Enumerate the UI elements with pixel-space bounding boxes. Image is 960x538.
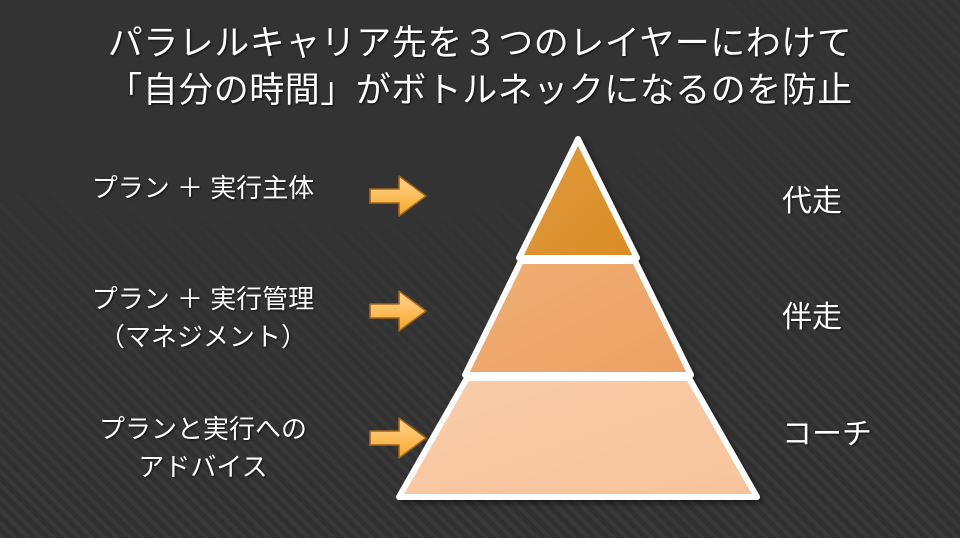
tier-bottom-right-label: コーチ [782,415,942,455]
page-title: パラレルキャリア先を３つのレイヤーにわけて 「自分の時間」がボトルネックになるの… [0,20,960,114]
tier-middle-left-label: プラン ＋ 実行管理 （マネジメント） [38,280,368,356]
right-arrow-icon [368,288,428,334]
pyramid-diagram [388,128,772,510]
tier-middle-left-label-line-2: （マネジメント） [38,318,368,356]
page-title-line-2: 「自分の時間」がボトルネックになるのを防止 [0,67,960,114]
tier-bottom-left-label: プランと実行への アドバイス [38,410,368,486]
tier-top-right-label: 代走 [782,182,942,222]
tier-middle-left-label-line-1: プラン ＋ 実行管理 [38,280,368,318]
tier-bottom-left-label-line-1: プランと実行への [38,410,368,448]
tier-bottom-left-label-line-2: アドバイス [38,448,368,486]
pyramid-tier-middle-shape [465,261,691,375]
pyramid-tier-bottom-shape [399,378,757,497]
tier-middle-right-label: 伴走 [782,298,942,338]
tier-top-left-label: プラン ＋ 実行主体 [38,169,368,207]
right-arrow-icon [368,415,428,461]
page-title-line-1: パラレルキャリア先を３つのレイヤーにわけて [0,20,960,67]
right-arrow-icon [368,173,428,219]
tier-top-left-label-line-1: プラン ＋ 実行主体 [38,169,368,207]
slide-canvas: パラレルキャリア先を３つのレイヤーにわけて 「自分の時間」がボトルネックになるの… [0,0,960,538]
pyramid-tier-top-shape [519,139,637,258]
